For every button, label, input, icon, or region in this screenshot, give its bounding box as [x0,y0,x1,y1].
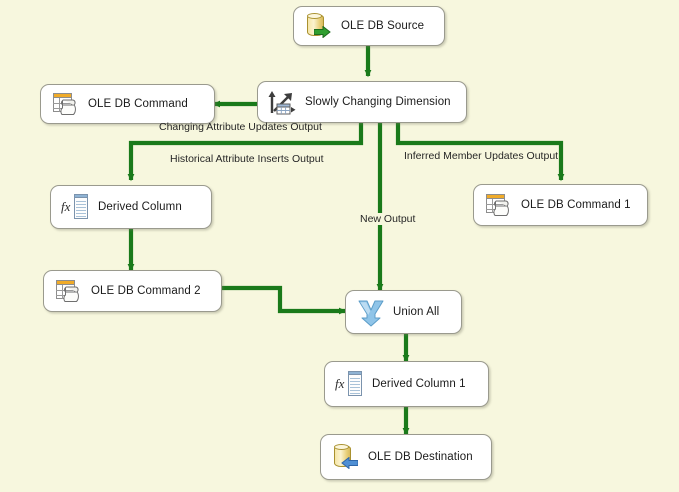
ole-db-command-icon [51,89,81,119]
edge-ole-db-command-2-to-union-all [222,288,345,311]
ole-db-command-icon [54,276,84,306]
node-label: Slowly Changing Dimension [305,96,451,108]
node-ole-db-command-1[interactable]: OLE DB Command 1 [473,184,648,226]
node-label: OLE DB Command [88,98,188,110]
node-slowly-changing-dimension[interactable]: Slowly Changing Dimension [257,81,467,123]
node-ole-db-command-2[interactable]: OLE DB Command 2 [43,270,222,312]
node-label: OLE DB Destination [368,451,473,463]
node-derived-column[interactable]: fx Derived Column [50,185,212,229]
node-derived-column-1[interactable]: fx Derived Column 1 [324,361,489,407]
node-label: Union All [393,306,439,318]
slowly-changing-dimension-icon [268,87,298,117]
node-ole-db-source[interactable]: OLE DB Source [293,6,445,46]
edge-label-changing-attribute-updates-output: Changing Attribute Updates Output [159,121,322,133]
node-ole-db-command[interactable]: OLE DB Command [40,84,215,124]
union-all-icon [356,297,386,327]
edge-label-inferred-member-updates-output: Inferred Member Updates Output [404,150,558,162]
data-flow-canvas[interactable]: Changing Attribute Updates Output Histor… [0,0,679,492]
database-import-icon [331,442,361,472]
node-label: OLE DB Command 1 [521,199,631,211]
node-label: Derived Column 1 [372,378,466,390]
edge-label-historical-attribute-inserts-output: Historical Attribute Inserts Output [170,153,323,165]
derived-column-icon: fx [61,192,91,222]
node-union-all[interactable]: Union All [345,290,462,334]
ole-db-command-icon [484,190,514,220]
node-label: OLE DB Command 2 [91,285,201,297]
derived-column-icon: fx [335,369,365,399]
edge-label-new-output: New Output [358,213,417,225]
database-export-icon [304,11,334,41]
node-label: OLE DB Source [341,20,424,32]
connector-layer [0,0,679,492]
node-ole-db-destination[interactable]: OLE DB Destination [320,434,492,480]
node-label: Derived Column [98,201,182,213]
